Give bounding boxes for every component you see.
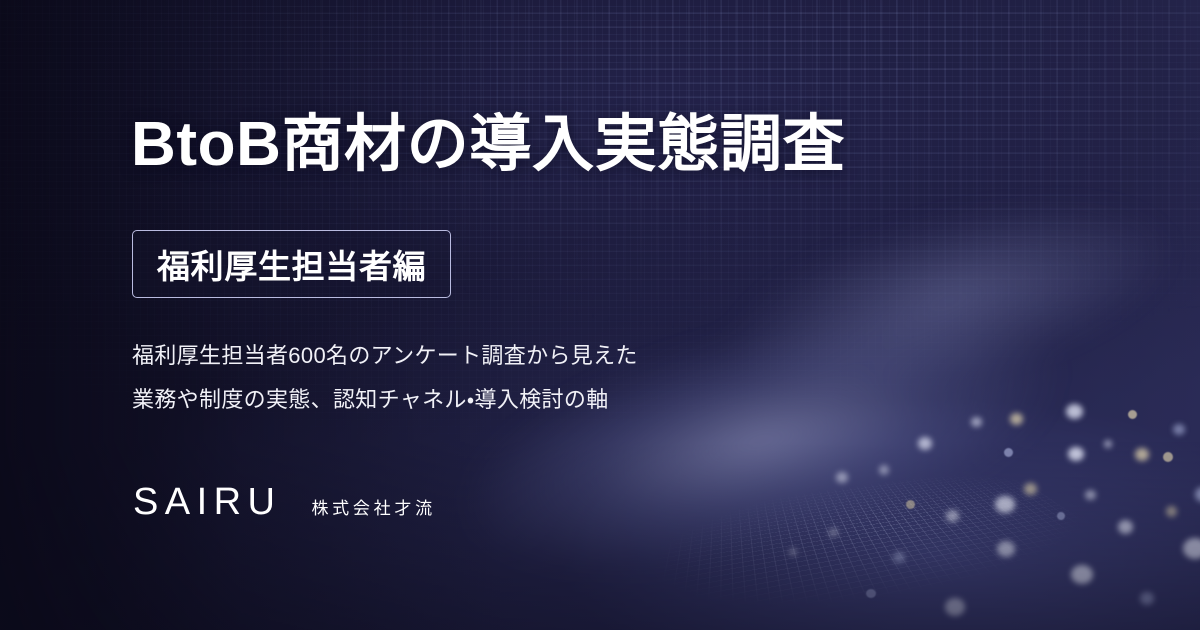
cover-content: BtoB商材の導入実態調査 福利厚生担当者編 福利厚生担当者600名のアンケート…: [131, 0, 1031, 630]
lead-text-block: 福利厚生担当者600名のアンケート調査から見えた 業務や制度の実態、認知チャネル…: [132, 334, 638, 422]
page-title: BtoB商材の導入実態調査: [131, 112, 845, 177]
company-name-jp: 株式会社才流: [311, 500, 435, 517]
report-cover-card: BtoB商材の導入実態調査 福利厚生担当者編 福利厚生担当者600名のアンケート…: [0, 0, 1200, 630]
edition-badge: 福利厚生担当者編: [132, 230, 451, 298]
lead-line-2: 業務や制度の実態、認知チャネル・導入検討の軸: [132, 378, 638, 422]
lead-line-1: 福利厚生担当者600名のアンケート調査から見えた: [132, 334, 638, 378]
brand-lockup: SAIRU 株式会社才流: [133, 483, 436, 521]
sairu-logo: SAIRU: [133, 483, 281, 521]
